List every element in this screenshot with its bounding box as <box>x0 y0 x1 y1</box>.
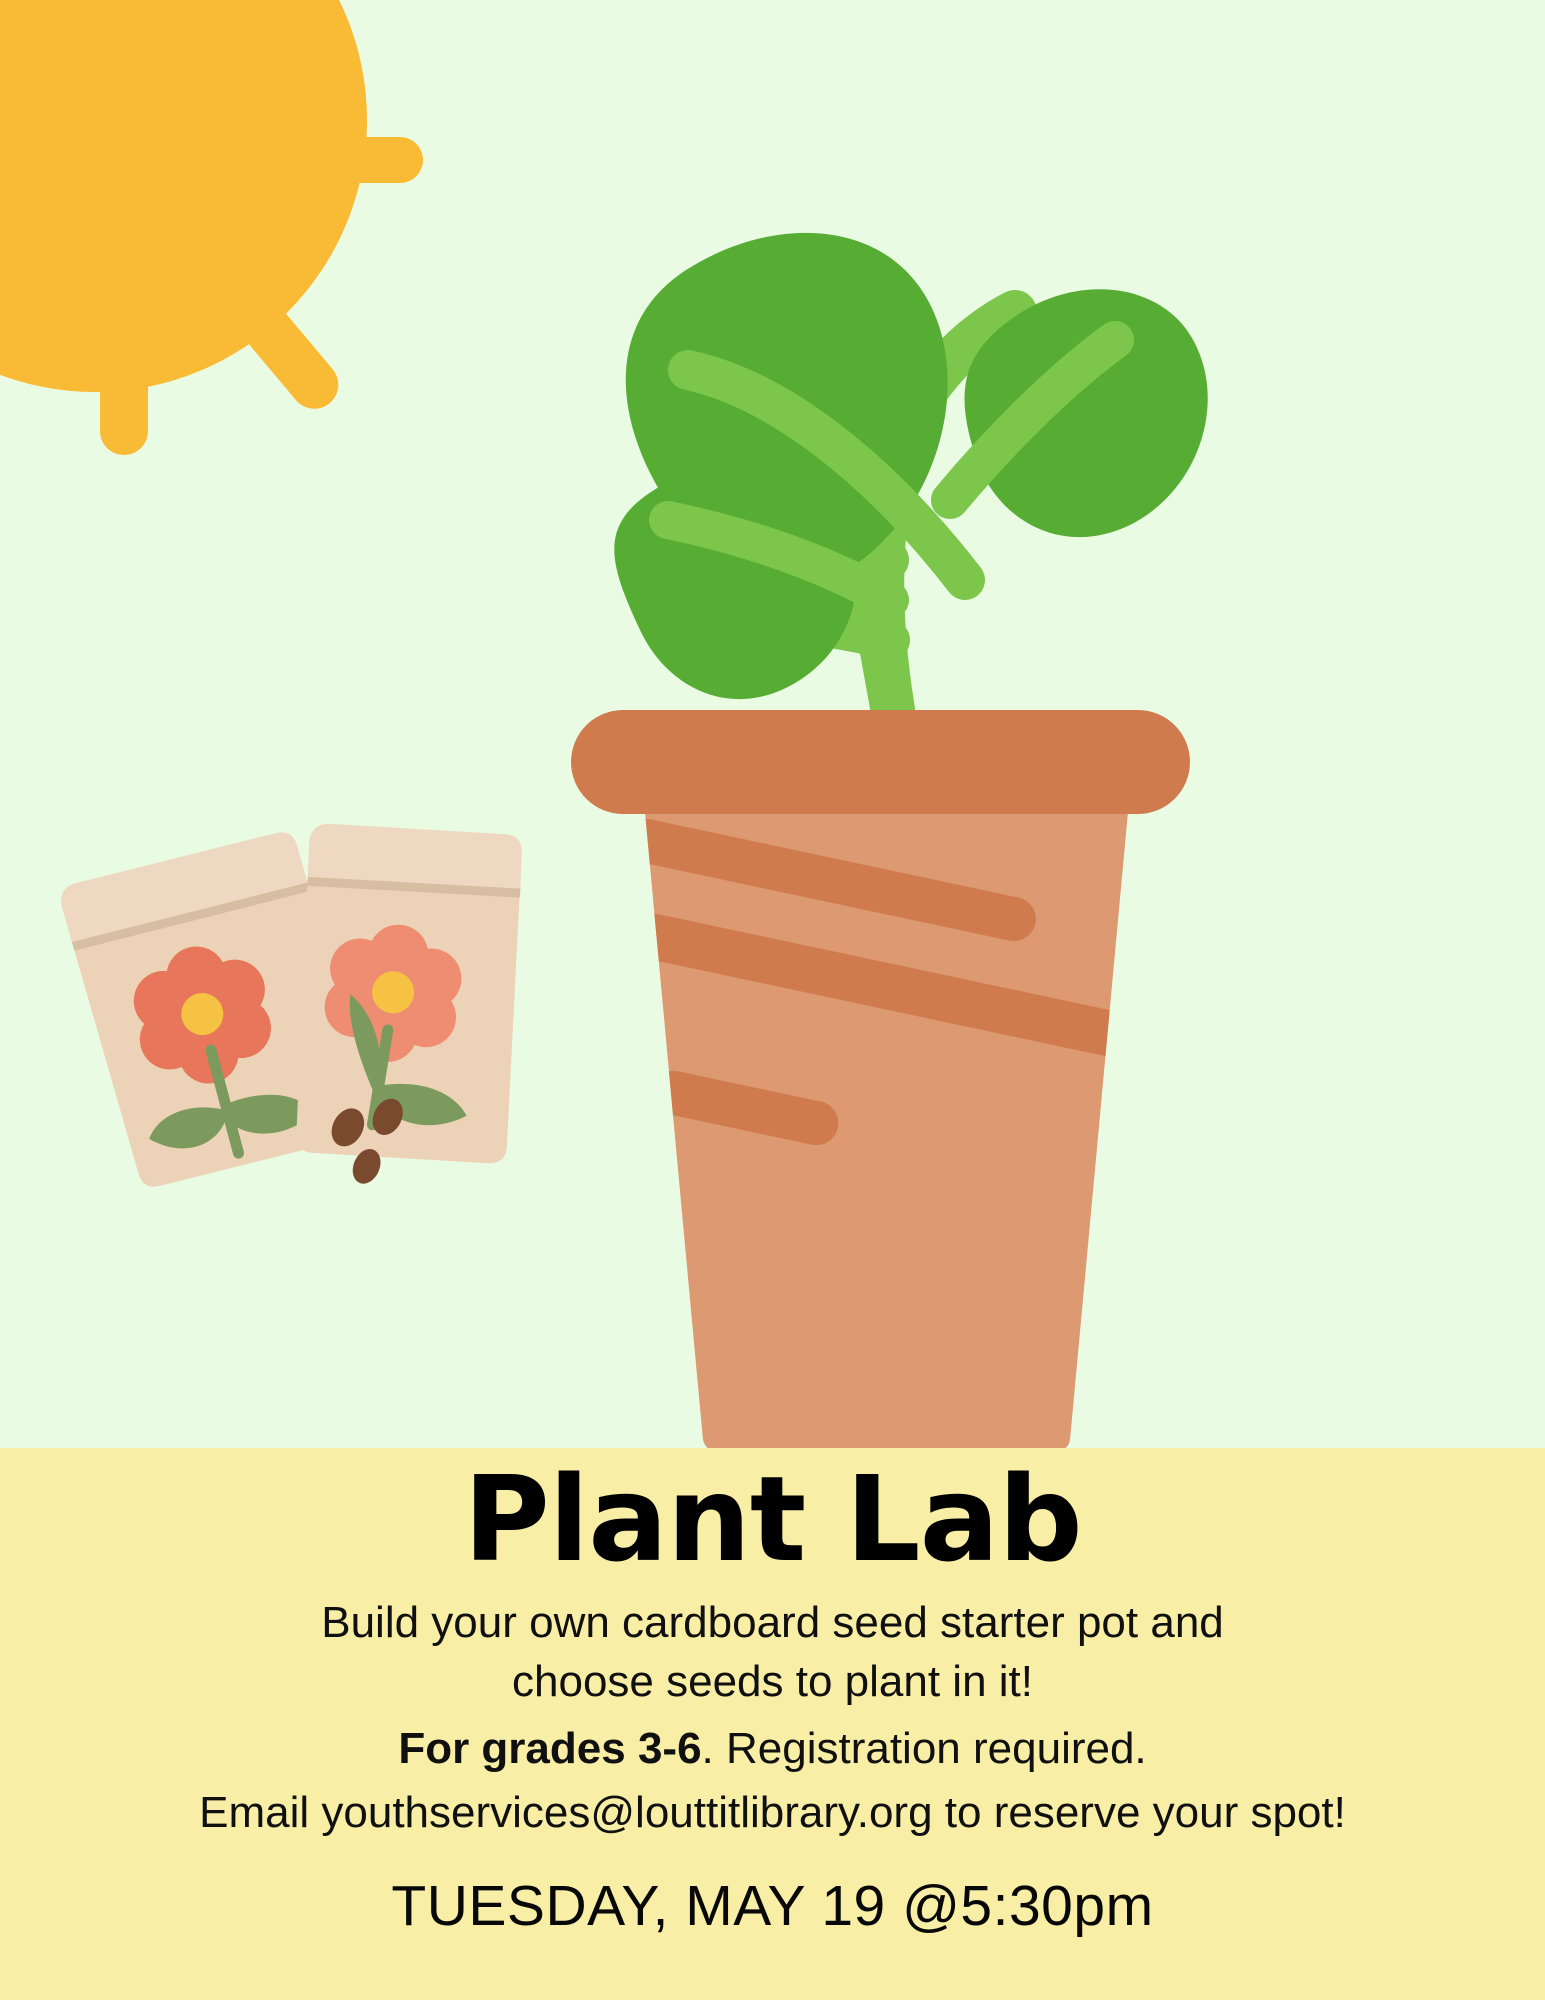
sun-ray-right <box>313 137 423 183</box>
poster-canvas: Plant Lab Build your own cardboard seed … <box>0 0 1545 2000</box>
description-line-2: choose seeds to plant in it! <box>512 1653 1033 1710</box>
grades-line: For grades 3-6. Registration required. <box>398 1720 1146 1777</box>
email-line: Email youthservices@louttitlibrary.org t… <box>199 1784 1346 1841</box>
sun-ray-bottom <box>100 345 148 455</box>
poster-text-band: Plant Lab Build your own cardboard seed … <box>0 1448 1545 2000</box>
event-date-time: TUESDAY, MAY 19 @5:30pm <box>391 1875 1153 1938</box>
grades-rest-text: . Registration required. <box>702 1724 1147 1773</box>
description-line-1: Build your own cardboard seed starter po… <box>321 1594 1224 1651</box>
grades-bold-text: For grades 3-6 <box>398 1724 701 1773</box>
page-title: Plant Lab <box>463 1460 1081 1578</box>
pot-rim <box>571 710 1190 814</box>
